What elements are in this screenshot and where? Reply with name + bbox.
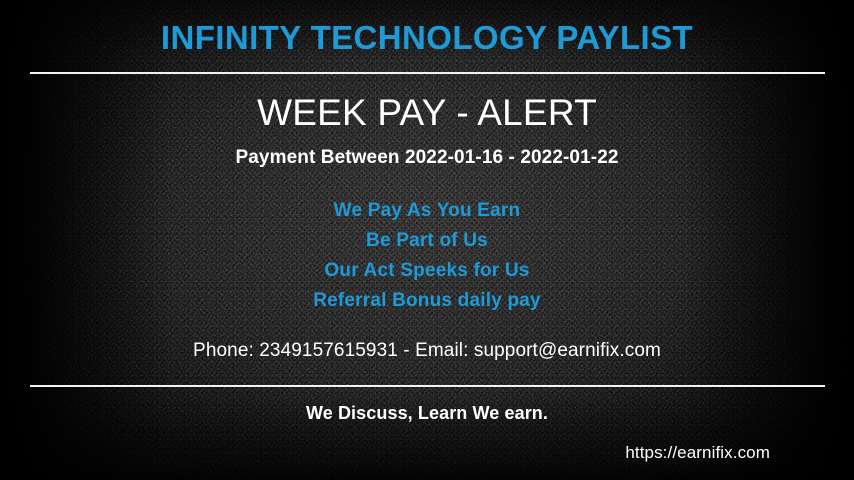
payment-alert-poster: INFINITY TECHNOLOGY PAYLIST WEEK PAY - A… — [0, 0, 854, 480]
website-url: https://earnifix.com — [625, 443, 770, 463]
poster-headline: WEEK PAY - ALERT — [0, 93, 854, 134]
tagline-item: Be Part of Us — [0, 226, 854, 256]
poster-title: INFINITY TECHNOLOGY PAYLIST — [0, 20, 854, 56]
tagline-item: We Pay As You Earn — [0, 196, 854, 226]
divider-bottom — [30, 385, 825, 387]
poster-content: INFINITY TECHNOLOGY PAYLIST WEEK PAY - A… — [0, 0, 854, 480]
tagline-item: Referral Bonus daily pay — [0, 286, 854, 316]
contact-info: Phone: 2349157615931 - Email: support@ea… — [0, 340, 854, 362]
tagline-list: We Pay As You Earn Be Part of Us Our Act… — [0, 196, 854, 316]
payment-period-text: Payment Between 2022-01-16 - 2022-01-22 — [0, 147, 854, 169]
company-slogan: We Discuss, Learn We earn. — [0, 403, 854, 424]
tagline-item: Our Act Speeks for Us — [0, 256, 854, 286]
divider-top — [30, 72, 825, 74]
